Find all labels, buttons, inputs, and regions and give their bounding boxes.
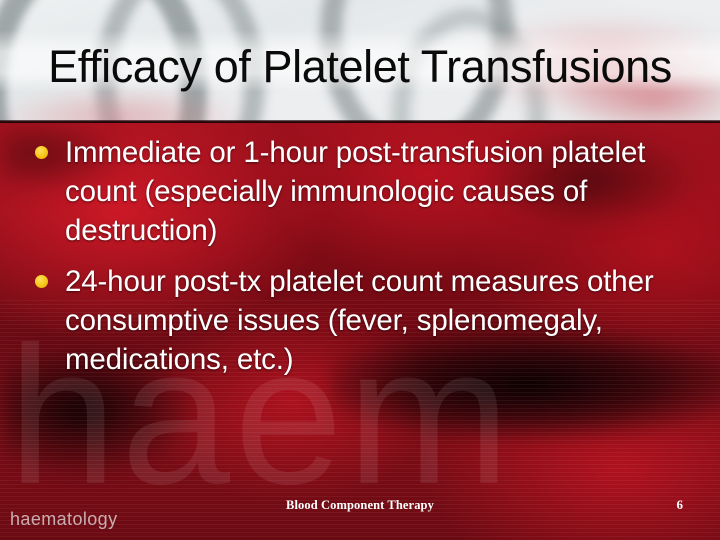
bullet-item-text: 24-hour post-tx platelet count measures …: [65, 265, 654, 376]
bullet-item: Immediate or 1-hour post-transfusion pla…: [33, 133, 683, 250]
header-bottom-edge: [0, 120, 720, 123]
presentation-slide: haem Efficacy of Platelet Transfusions I…: [0, 0, 720, 540]
slide-body-content: Immediate or 1-hour post-transfusion pla…: [33, 133, 683, 391]
bullet-dot-icon: [35, 275, 48, 288]
bullet-item-text: Immediate or 1-hour post-transfusion pla…: [65, 136, 645, 247]
corner-brand-label: haematology: [10, 509, 117, 530]
bullet-dot-icon: [35, 146, 48, 159]
bullet-item: 24-hour post-tx platelet count measures …: [33, 262, 683, 379]
slide-title: Efficacy of Platelet Transfusions: [0, 41, 720, 93]
